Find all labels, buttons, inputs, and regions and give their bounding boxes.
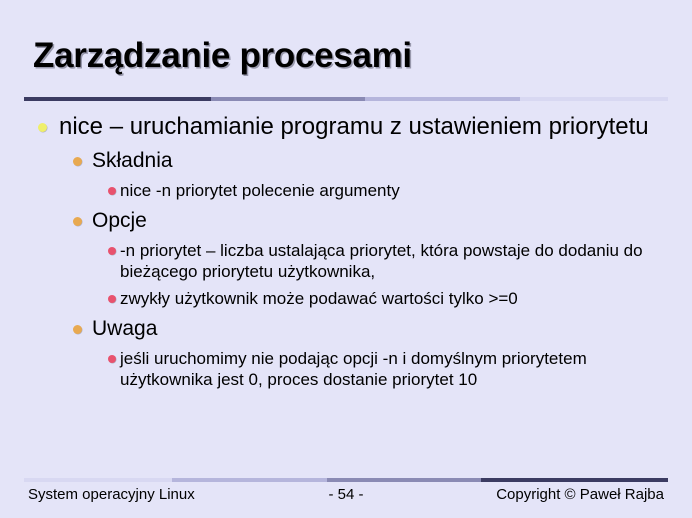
- list-item: -n priorytet – liczba ustalająca prioryt…: [0, 240, 692, 282]
- header-divider: [24, 97, 668, 101]
- footer-copyright: Copyright © Paweł Rajba: [496, 486, 664, 503]
- bullet-dot-icon: [108, 247, 116, 255]
- list-item: jeśli uruchomimy nie podając opcji -n i …: [0, 348, 692, 390]
- footer-divider-segment-4: [481, 478, 668, 482]
- list-item-label: jeśli uruchomimy nie podając opcji -n i …: [120, 348, 650, 390]
- slide: Zarządzanie procesami nice – uruchamiani…: [0, 0, 692, 518]
- bullet-dot-icon: [73, 157, 82, 166]
- list-item-label: -n priorytet – liczba ustalająca prioryt…: [120, 240, 650, 282]
- list-item: Składnia: [0, 148, 692, 174]
- list-item-label: nice -n priorytet polecenie argumenty: [120, 180, 650, 201]
- list-item: Uwaga: [0, 316, 692, 342]
- bullet-dot-icon: [73, 217, 82, 226]
- list-item-label: zwykły użytkownik może podawać wartości …: [120, 288, 650, 309]
- footer-divider-segment-2: [172, 478, 327, 482]
- slide-footer: System operacyjny Linux - 54 - Copyright…: [0, 486, 692, 510]
- footer-divider-segment-3: [327, 478, 482, 482]
- list-item-label: Uwaga: [92, 316, 652, 342]
- list-item-label: Składnia: [92, 148, 652, 174]
- bullet-dot-icon: [38, 123, 47, 132]
- list-item-label: nice – uruchamianie programu z ustawieni…: [59, 112, 652, 141]
- bullet-dot-icon: [108, 295, 116, 303]
- list-item: nice – uruchamianie programu z ustawieni…: [0, 112, 692, 141]
- bullet-dot-icon: [108, 355, 116, 363]
- slide-body: nice – uruchamianie programu z ustawieni…: [0, 112, 692, 390]
- header-divider-segment-2: [211, 97, 366, 101]
- list-item: zwykły użytkownik może podawać wartości …: [0, 288, 692, 309]
- footer-divider-segment-1: [24, 478, 172, 482]
- bullet-dot-icon: [73, 325, 82, 334]
- footer-divider: [24, 478, 668, 482]
- list-item: nice -n priorytet polecenie argumenty: [0, 180, 692, 201]
- list-item-label: Opcje: [92, 208, 652, 234]
- bullet-dot-icon: [108, 187, 116, 195]
- header-divider-segment-3: [365, 97, 520, 101]
- header-divider-segment-1: [24, 97, 211, 101]
- page-title: Zarządzanie procesami: [33, 36, 412, 76]
- header-divider-segment-4: [520, 97, 668, 101]
- list-item: Opcje: [0, 208, 692, 234]
